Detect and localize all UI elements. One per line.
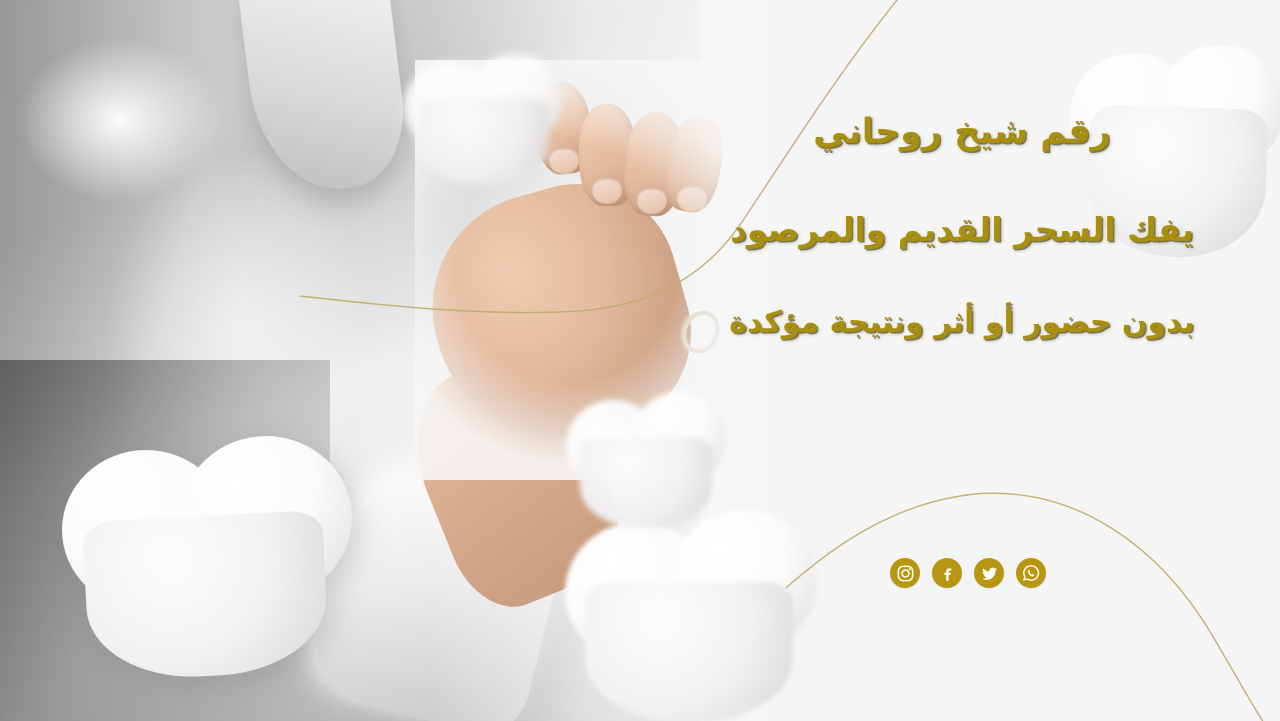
promo-banner: رقم شيخ روحاني يفك السحر القديم والمرصود… xyxy=(0,0,1280,721)
headline-line-2: يفك السحر القديم والمرصود xyxy=(702,210,1222,249)
social-links xyxy=(890,558,1046,588)
heart-decoration-mid-center xyxy=(566,392,726,528)
twitter-icon[interactable] xyxy=(974,558,1004,588)
heart-decoration-top-center xyxy=(404,54,564,184)
gold-arc-bottom xyxy=(786,493,1266,721)
headline-line-1: رقم شيخ روحاني xyxy=(702,112,1222,152)
heart-decoration-bottom-left xyxy=(62,436,352,676)
shirt-collar xyxy=(238,0,412,198)
facebook-icon[interactable] xyxy=(932,558,962,588)
headline-block: رقم شيخ روحاني يفك السحر القديم والمرصود… xyxy=(702,112,1222,340)
headline-line-3: بدون حضور أو أثر ونتيجة مؤكدة xyxy=(702,305,1222,340)
whatsapp-icon[interactable] xyxy=(1016,558,1046,588)
heart-decoration-bottom-center xyxy=(565,510,815,721)
instagram-icon[interactable] xyxy=(890,558,920,588)
